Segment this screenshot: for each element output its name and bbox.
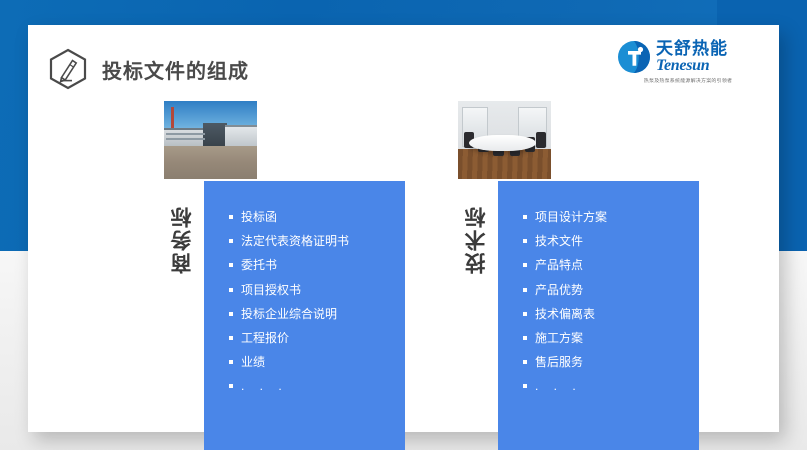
business-bid-vertical-label: 商务标 — [172, 205, 198, 274]
hexagon-pencil-icon — [48, 48, 88, 90]
slide-stage: 投标文件的组成 天舒热能 Tenesun 热泵及热泵系统能源解决方案 — [0, 0, 807, 450]
list-item: . . . — [228, 380, 428, 392]
factory-building-photo — [164, 101, 257, 179]
meeting-room-photo — [458, 101, 551, 179]
list-item: . . . — [522, 380, 722, 392]
list-item: 委托书 — [228, 259, 428, 271]
list-item: 产品特点 — [522, 259, 722, 271]
list-item: 业绩 — [228, 356, 428, 368]
list-item: 产品优势 — [522, 284, 722, 296]
technical-bid-list: 项目设计方案 技术文件 产品特点 产品优势 技术偏离表 施工方案 售后服务 . … — [522, 211, 722, 405]
list-item: 售后服务 — [522, 356, 722, 368]
business-bid-list: 投标函 法定代表资格证明书 委托书 项目授权书 投标企业综合说明 工程报价 业绩… — [228, 211, 428, 405]
column-technical-bid: 技术标 项目设计方案 技术文件 产品特点 产品优势 技术偏离表 施工方案 售后服… — [422, 25, 727, 432]
column-business-bid: 商务标 投标函 法定代表资格证明书 委托书 项目授权书 投标企业综合说明 工程报… — [128, 25, 433, 432]
list-item: 技术文件 — [522, 235, 722, 247]
list-item: 项目授权书 — [228, 284, 428, 296]
technical-bid-vertical-label: 技术标 — [466, 205, 492, 274]
list-item: 技术偏离表 — [522, 308, 722, 320]
list-item: 法定代表资格证明书 — [228, 235, 428, 247]
list-item: 项目设计方案 — [522, 211, 722, 223]
list-item: 施工方案 — [522, 332, 722, 344]
list-item: 投标函 — [228, 211, 428, 223]
list-item: 工程报价 — [228, 332, 428, 344]
list-item: 投标企业综合说明 — [228, 308, 428, 320]
slide-card: 投标文件的组成 天舒热能 Tenesun 热泵及热泵系统能源解决方案 — [28, 25, 779, 432]
